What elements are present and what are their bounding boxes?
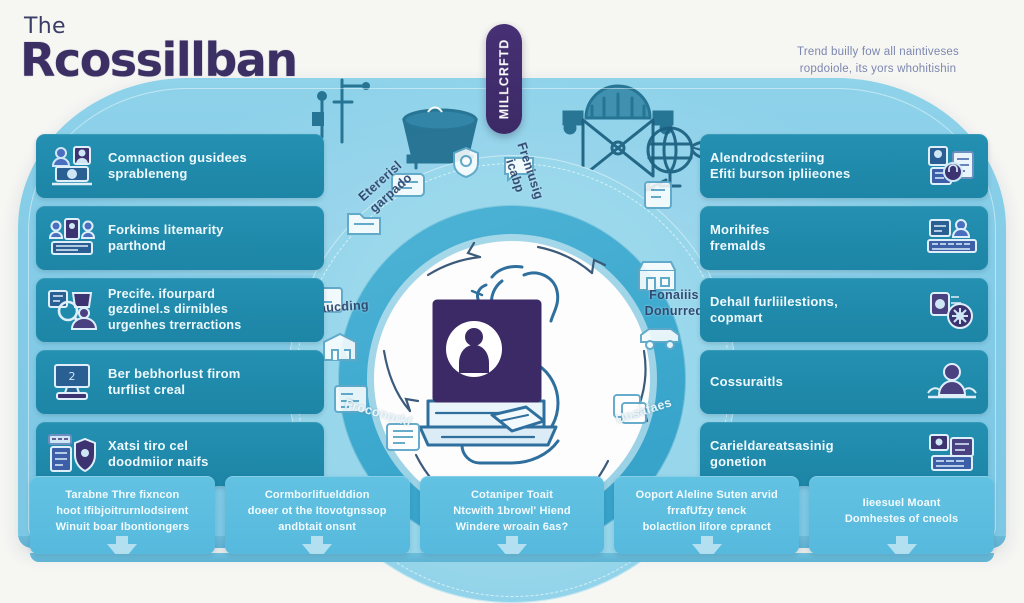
- right-row-2[interactable]: Morihifes fremalds: [700, 206, 988, 270]
- bottom-card-1[interactable]: Tarabne Thre fixncon hoot Ifibjoitrurnlo…: [30, 476, 215, 554]
- down-arrow-icon: [105, 536, 139, 554]
- down-arrow-icon: [690, 536, 724, 554]
- workstation-icon: [926, 430, 978, 478]
- bottom-card-3[interactable]: Cotaniper Toait Ntcwith 1browl' Hiend Wi…: [420, 476, 605, 554]
- document-lock-icon: [926, 142, 978, 190]
- down-arrow-icon: [885, 536, 919, 554]
- right-row-5-label: Carieldareatsasinig gonetion: [710, 438, 916, 471]
- magnifier-shield-icon: [46, 286, 98, 334]
- left-feature-list: Comnaction gusidees sprableneng Forkims …: [36, 134, 324, 494]
- left-row-2-label: Forkims litemarity parthond: [108, 222, 314, 255]
- poster-header: The Rcossillban: [20, 14, 297, 84]
- bottom-card-5[interactable]: Iieesuel Moant Domhestes of cneols: [809, 476, 994, 554]
- infographic-poster: The Rcossillban Trend builly fow all nai…: [0, 0, 1024, 576]
- bottom-card-4[interactable]: Ooport Aleline Suten arvid frrafUfzy ten…: [614, 476, 799, 554]
- monitor-people-icon: [46, 142, 98, 190]
- right-row-2-label: Morihifes fremalds: [710, 222, 916, 255]
- right-feature-list: Alendrodcsteriing Efiti burson ipliieone…: [700, 134, 988, 494]
- office-desk-icon: [926, 214, 978, 262]
- left-row-4[interactable]: 2 Ber bebhorlust firom turflist creal: [36, 350, 324, 414]
- server-lock-icon: [46, 430, 98, 478]
- left-row-3-label: Precife. ifourpard gezdinel.s dirnibles …: [108, 287, 314, 334]
- person-support-icon: [926, 358, 978, 406]
- right-row-3[interactable]: Dehall furliilestions, copmart: [700, 278, 988, 342]
- mini-building-icon: [318, 330, 362, 364]
- left-row-2[interactable]: Forkims litemarity parthond: [36, 206, 324, 270]
- left-row-5-label: Xatsi tiro cel doodmiior naifs: [108, 438, 314, 471]
- gear-settings-icon: [926, 286, 978, 334]
- svg-text:2: 2: [69, 370, 76, 383]
- bottom-card-2[interactable]: Cormborlifuelddion doeer ot the Itovotgn…: [225, 476, 410, 554]
- left-row-3[interactable]: Precife. ifourpard gezdinel.s dirnibles …: [36, 278, 324, 342]
- mini-shield-icon: [448, 144, 484, 180]
- center-badge-label: MILLCRFTD: [497, 39, 511, 120]
- mini-vehicle-icon: [636, 322, 684, 352]
- center-badge: MILLCRFTD: [486, 24, 522, 134]
- bottom-card-1-label: Tarabne Thre fixncon hoot Ifibjoitrurnlo…: [56, 489, 190, 533]
- desktop-alert-icon: 2: [46, 358, 98, 406]
- left-row-1-label: Comnaction gusidees sprableneng: [108, 150, 314, 183]
- right-row-3-label: Dehall furliilestions, copmart: [710, 294, 916, 327]
- down-arrow-icon: [300, 536, 334, 554]
- left-row-4-label: Ber bebhorlust firom turflist creal: [108, 366, 314, 399]
- bottom-card-5-label: Iieesuel Moant Domhestes of cneols: [845, 488, 959, 528]
- mini-clipboard-icon: [638, 178, 678, 212]
- brand-title: Rcossillban: [20, 37, 297, 84]
- down-arrow-icon: [495, 536, 529, 554]
- bottom-card-row: Tarabne Thre fixncon hoot Ifibjoitrurnlo…: [30, 476, 994, 554]
- bottom-card-4-label: Ooport Aleline Suten arvid frrafUfzy ten…: [636, 489, 778, 533]
- header-subtitle: Trend builly fow all naintiveses ropdoio…: [758, 44, 998, 79]
- right-row-4-label: Cossuraitls: [710, 374, 916, 390]
- right-row-1[interactable]: Alendrodcsteriing Efiti burson ipliieone…: [700, 134, 988, 198]
- left-row-1[interactable]: Comnaction gusidees sprableneng: [36, 134, 324, 198]
- right-row-1-label: Alendrodcsteriing Efiti burson ipliieone…: [710, 150, 916, 183]
- bottom-card-2-label: Cormborlifuelddion doeer ot the Itovotgn…: [248, 489, 387, 533]
- bottom-card-3-label: Cotaniper Toait Ntcwith 1browl' Hiend Wi…: [453, 489, 571, 533]
- right-row-4[interactable]: Cossuraitls: [700, 350, 988, 414]
- keyboard-team-icon: [46, 214, 98, 262]
